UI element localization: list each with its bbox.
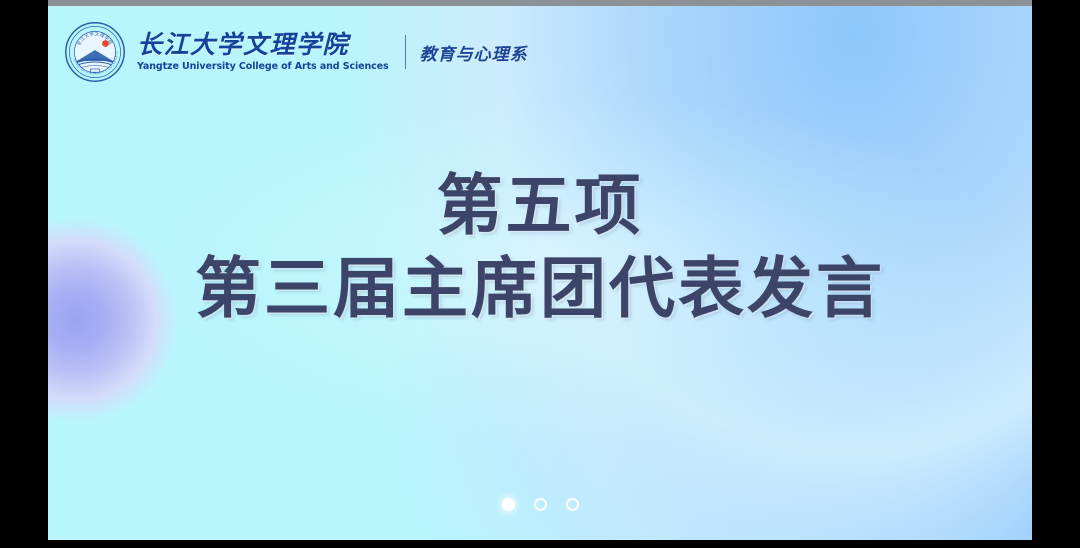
presentation-slide[interactable]: 长江大学文理学院 YANGTZE UNIVERSITY COLLEGE OF A… <box>48 0 1032 540</box>
university-seal-icon: 长江大学文理学院 YANGTZE UNIVERSITY COLLEGE OF A… <box>64 21 126 83</box>
slide-pagination[interactable] <box>48 498 1032 511</box>
slide-header: 长江大学文理学院 YANGTZE UNIVERSITY COLLEGE OF A… <box>48 6 1032 98</box>
institution-name-cn: 长江大学文理学院 <box>137 32 389 57</box>
institution-name-en: Yangtze University College of Arts and S… <box>137 62 389 72</box>
pagination-dot-2[interactable] <box>534 498 547 511</box>
letterbox-bar-right <box>1032 0 1080 548</box>
logo-divider <box>405 35 406 69</box>
letterbox-bar-left <box>0 0 48 548</box>
pagination-dot-3[interactable] <box>566 498 579 511</box>
slide-title-line-1: 第五项 <box>48 168 1032 245</box>
letterbox-bar-bottom <box>0 540 1080 548</box>
screen: 长江大学文理学院 YANGTZE UNIVERSITY COLLEGE OF A… <box>0 0 1080 548</box>
institution-wordmark: 长江大学文理学院 Yangtze University College of A… <box>137 23 389 81</box>
department-name: 教育与心理系 <box>420 40 528 65</box>
slide-title-line-2: 第三届主席团代表发言 <box>48 251 1032 328</box>
pagination-dot-1[interactable] <box>502 498 515 511</box>
slide-title-block: 第五项 第三届主席团代表发言 <box>48 168 1032 327</box>
institution-logo-lockup: 长江大学文理学院 YANGTZE UNIVERSITY COLLEGE OF A… <box>64 12 528 92</box>
